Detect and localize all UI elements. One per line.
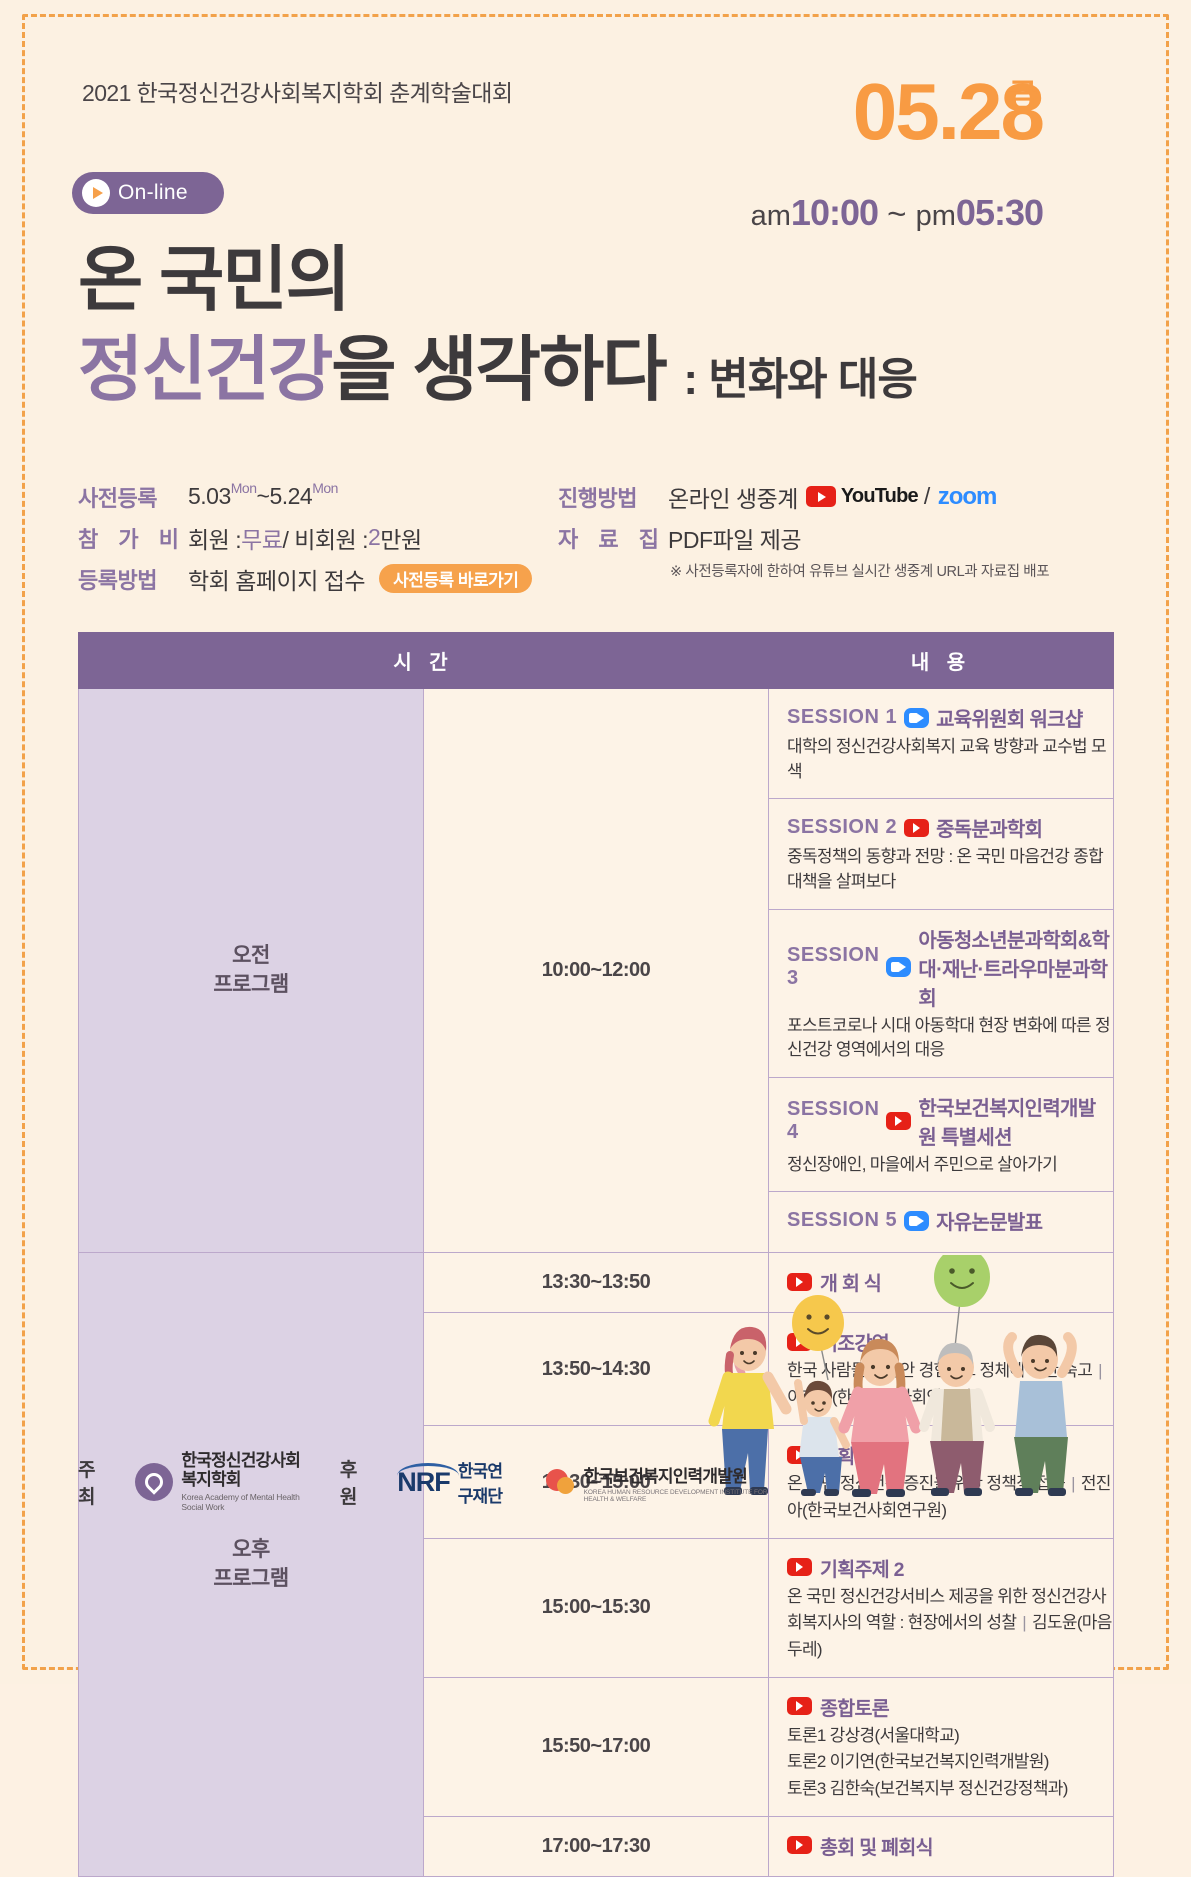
info-label-preregistration: 사전등록 <box>78 481 188 513</box>
session-title: 한국보건복지인력개발원 특별세션 <box>918 1092 1113 1150</box>
kohi-name: 한국보건복지인력개발원 <box>584 1467 747 1486</box>
info-row-registration-method: 등록방법 학회 홈페이지 접수 사전등록 바로가기 <box>78 560 558 597</box>
youtube-icon <box>886 1112 911 1130</box>
info-label-fee: 참 가 비 <box>78 522 188 554</box>
session-head: SESSION 4 한국보건복지인력개발원 특별세션 <box>787 1092 1113 1150</box>
session-cell: SESSION 5 자유논문발표 <box>769 1192 1114 1253</box>
program-cell: 기획주제 2 온 국민 정신건강서비스 제공을 위한 정신건강사회복지사의 역할… <box>769 1538 1114 1677</box>
session-description: 대학의 정신건강사회복지 교육 방향과 교수법 모색 <box>787 735 1113 784</box>
delivery-text: 온라인 생중계 <box>668 480 798 514</box>
session-head: SESSION 5 자유논문발표 <box>787 1206 1113 1235</box>
session-title: 아동청소년분과학회&학대·재난·트라우마분과학회 <box>918 924 1113 1011</box>
start-time: 10:00 <box>791 192 878 233</box>
session-head: SESSION 1 교육위원회 워크샵 <box>787 703 1113 732</box>
event-kicker: 2021 한국정신건강사회복지학회 춘계학술대회 <box>82 74 512 108</box>
fee-nonmember-unit: 만원 <box>380 521 421 555</box>
event-time-range: am10:00 ~ pm05:30 <box>751 192 1043 234</box>
info-value-fee: 회원 : 무료 / 비회원 : 2만원 <box>188 521 422 555</box>
program-cell: 종합토론 토론1 강상경(서울대학교) 토론2 이기연(한국보건복지인력개발원)… <box>769 1677 1114 1816</box>
info-value-registration-method: 학회 홈페이지 접수 사전등록 바로가기 <box>188 562 532 596</box>
session-number: SESSION 4 <box>787 1098 879 1144</box>
info-row-fee: 참 가 비 회원 : 무료 / 비회원 : 2만원 <box>78 519 558 556</box>
session-head: SESSION 3 아동청소년분과학회&학대·재난·트라우마분과학회 <box>787 924 1113 1011</box>
sponsor-nrf: NRF 한국연구재단 <box>397 1457 513 1507</box>
info-column-right: 진행방법 온라인 생중계 YouTube / zoom 자 료 집 PDF파일 … <box>558 478 1098 581</box>
title-rest: 을 생각하다 <box>331 331 665 410</box>
event-date-weekday: 금 <box>1008 70 1037 116</box>
program-title: 종합토론 <box>820 1692 889 1721</box>
title-subtitle: : 변화와 대응 <box>683 355 917 404</box>
footer: 주 최 한국정신건강사회복지학회 Korea Academy of Mental… <box>78 1452 798 1512</box>
session-title: 교육위원회 워크샵 <box>936 703 1082 732</box>
nrf-wordmark: NRF <box>397 1467 450 1498</box>
sponsor-label: 후 원 <box>340 1455 385 1509</box>
session-cell: SESSION 2 중독분과학회 중독정책의 동향과 전망 : 온 국민 마음건… <box>769 799 1114 909</box>
info-value-materials: PDF파일 제공 <box>668 521 801 555</box>
morning-part-label: 오전프로그램 <box>79 689 424 1253</box>
prereg-tilde: ~ <box>257 483 270 510</box>
registration-method-text: 학회 홈페이지 접수 <box>188 562 365 596</box>
schedule-header-content: 내 용 <box>769 633 1114 689</box>
time-tilde: ~ <box>887 195 906 232</box>
info-block: 사전등록 5.03Mon~5.24Mon 참 가 비 회원 : 무료 / 비회원… <box>78 478 1118 601</box>
program-title: 기획주제 2 <box>820 1553 904 1582</box>
poster-title-line1: 온 국민의 <box>78 245 349 316</box>
host-organization: 한국정신건강사회복지학회 Korea Academy of Mental Hea… <box>135 1452 310 1512</box>
fee-member-value: 무료 <box>241 521 282 555</box>
program-title: 총회 및 폐회식 <box>820 1831 933 1860</box>
host-label: 주 최 <box>78 1455 123 1509</box>
youtube-wordmark: YouTube <box>841 485 918 508</box>
prereg-end-sup: Mon <box>312 480 338 496</box>
fee-nonmember-number: 2 <box>368 524 380 551</box>
pm-label: pm <box>916 200 956 232</box>
program-head: 총회 및 폐회식 <box>787 1831 1113 1860</box>
afternoon-part-label: 오후프로그램 <box>79 1253 424 1876</box>
info-value-preregistration: 5.03Mon~5.24Mon <box>188 483 338 510</box>
info-column-left: 사전등록 5.03Mon~5.24Mon 참 가 비 회원 : 무료 / 비회원… <box>78 478 558 601</box>
prereg-end: 5.24 <box>269 483 312 510</box>
afternoon-time: 15:00~15:30 <box>424 1538 769 1677</box>
session-cell: SESSION 3 아동청소년분과학회&학대·재난·트라우마분과학회 포스트코로… <box>769 909 1114 1077</box>
schedule-header-row: 시 간 내 용 <box>79 633 1114 689</box>
afternoon-time: 15:50~17:00 <box>424 1677 769 1816</box>
session-number: SESSION 1 <box>787 706 897 729</box>
host-logo-icon <box>135 1463 173 1501</box>
session-number: SESSION 2 <box>787 816 897 839</box>
title-highlight: 정신건강 <box>78 331 331 410</box>
info-row-materials: 자 료 집 PDF파일 제공 <box>558 519 1098 556</box>
info-label-delivery: 진행방법 <box>558 481 668 513</box>
zoom-icon <box>904 708 929 728</box>
info-label-registration-method: 등록방법 <box>78 563 188 595</box>
prereg-start: 5.03 <box>188 483 231 510</box>
session-description: 정신장애인, 마을에서 주민으로 살아가기 <box>787 1153 1113 1178</box>
session-number: SESSION 5 <box>787 1209 897 1232</box>
program-cell: 총회 및 폐회식 <box>769 1816 1114 1876</box>
preregistration-link-button[interactable]: 사전등록 바로가기 <box>379 564 532 593</box>
fee-member-prefix: 회원 : <box>188 521 241 555</box>
youtube-icon <box>806 486 836 507</box>
prereg-start-sup: Mon <box>231 480 257 496</box>
kohi-name-english: KOREA HUMAN RESOURCE DEVELOPMENT INSTITU… <box>584 1489 768 1503</box>
info-row-preregistration: 사전등록 5.03Mon~5.24Mon <box>78 478 558 515</box>
youtube-icon <box>787 1836 812 1854</box>
zoom-icon <box>886 957 911 977</box>
info-label-materials: 자 료 집 <box>558 522 668 554</box>
session-cell: SESSION 1 교육위원회 워크샵 대학의 정신건강사회복지 교육 방향과 … <box>769 689 1114 799</box>
program-head: 기획주제 2 <box>787 1553 1113 1582</box>
logo-slash: / <box>924 483 930 510</box>
program-description: 토론1 강상경(서울대학교) 토론2 이기연(한국보건복지인력개발원) 토론3 … <box>787 1723 1113 1802</box>
program-description: 온 국민 정신건강서비스 제공을 위한 정신건강사회복지사의 역할 : 현장에서… <box>787 1584 1113 1663</box>
online-badge-label: On-line <box>118 181 188 205</box>
kohi-text: 한국보건복지인력개발원 KOREA HUMAN RESOURCE DEVELOP… <box>584 1462 768 1503</box>
sponsor-kohi: 한국보건복지인력개발원 KOREA HUMAN RESOURCE DEVELOP… <box>544 1462 768 1503</box>
am-label: am <box>751 200 791 232</box>
session-cell: SESSION 4 한국보건복지인력개발원 특별세션 정신장애인, 마을에서 주… <box>769 1077 1114 1192</box>
session-title: 중독분과학회 <box>936 813 1042 842</box>
zoom-wordmark: zoom <box>938 483 997 511</box>
session-head: SESSION 2 중독분과학회 <box>787 813 1113 842</box>
youtube-logo: YouTube <box>806 485 918 508</box>
info-row-delivery: 진행방법 온라인 생중계 YouTube / zoom <box>558 478 1098 515</box>
host-name-english: Korea Academy of Mental Health Social Wo… <box>181 1492 310 1512</box>
session-number: SESSION 3 <box>787 944 879 990</box>
table-row: 오전프로그램 10:00~12:00 SESSION 1 교육위원회 워크샵 대… <box>79 689 1114 799</box>
host-name: 한국정신건강사회복지학회 <box>181 1451 300 1489</box>
session-title: 자유논문발표 <box>936 1206 1042 1235</box>
session-description: 포스트코로나 시대 아동학대 현장 변화에 따른 정신건강 영역에서의 대응 <box>787 1014 1113 1063</box>
schedule-header-time: 시 간 <box>79 633 769 689</box>
poster-title-line2: 정신건강을 생각하다 : 변화와 대응 <box>78 335 917 406</box>
kohi-logo-icon <box>544 1465 576 1499</box>
host-text: 한국정신건강사회복지학회 Korea Academy of Mental Hea… <box>181 1452 310 1512</box>
youtube-icon <box>787 1697 812 1715</box>
program-head: 종합토론 <box>787 1692 1113 1721</box>
youtube-icon <box>904 819 929 837</box>
info-value-delivery: 온라인 생중계 YouTube / zoom <box>668 480 996 514</box>
morning-time: 10:00~12:00 <box>424 689 769 1253</box>
zoom-icon <box>904 1211 929 1231</box>
end-time: 05:30 <box>956 192 1043 233</box>
poster-root: 2021 한국정신건강사회복지학회 춘계학술대회 On-line 05.28 금… <box>0 0 1191 1684</box>
info-note: ※ 사전등록자에 한하여 유튜브 실시간 생중계 URL과 자료집 배포 <box>558 560 1098 581</box>
nrf-name-korean: 한국연구재단 <box>458 1457 514 1507</box>
program-separator: | <box>1016 1613 1032 1632</box>
online-badge: On-line <box>72 172 224 214</box>
play-icon <box>82 179 110 207</box>
fee-divider: / 비회원 : <box>282 521 368 555</box>
youtube-icon <box>787 1558 812 1576</box>
session-description: 중독정책의 동향과 전망 : 온 국민 마음건강 종합대책을 살펴보다 <box>787 845 1113 894</box>
afternoon-time: 17:00~17:30 <box>424 1816 769 1876</box>
